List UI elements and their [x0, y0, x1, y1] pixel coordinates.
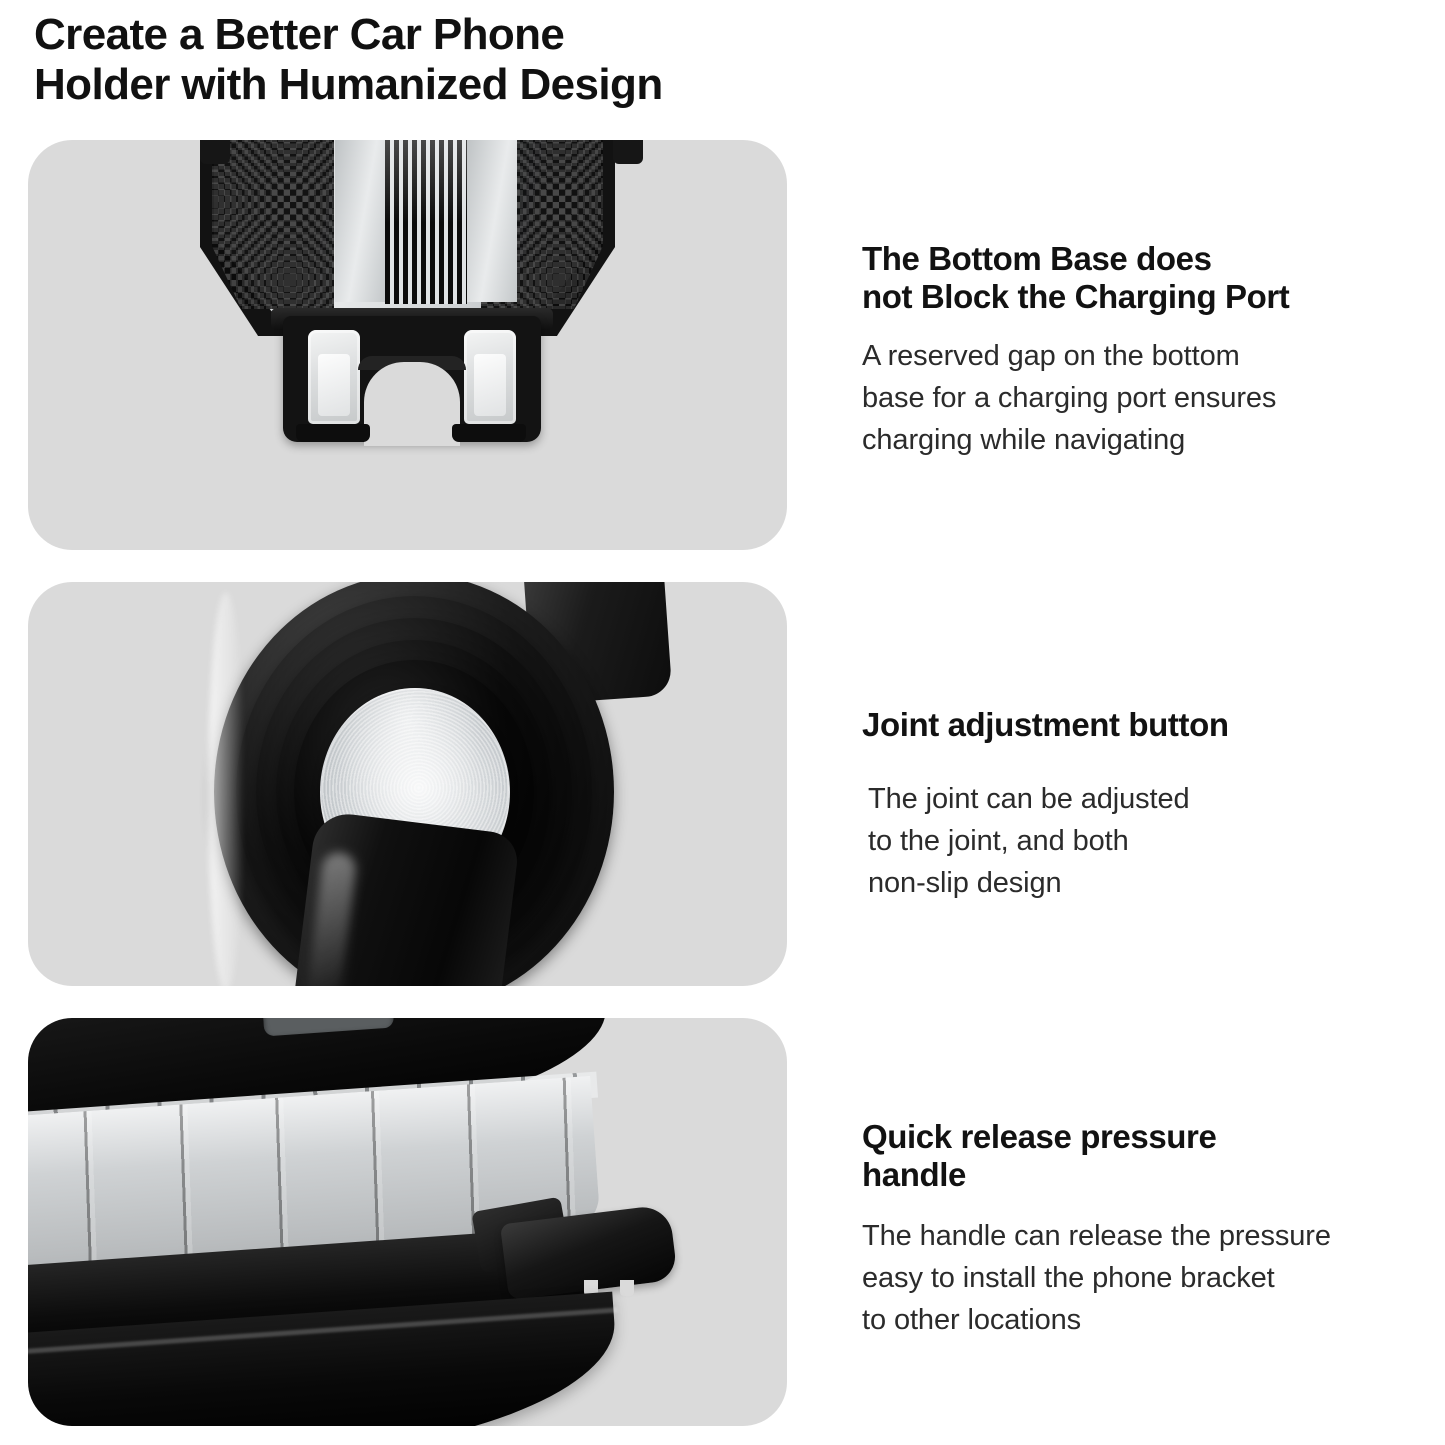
- product-photo-bottom-base: [28, 140, 787, 550]
- feature-body-3-line-3: to other locations: [862, 1299, 1442, 1341]
- ribbed-center-strip: [385, 140, 467, 304]
- feature-body-1-line-1: A reserved gap on the bottom: [862, 335, 1442, 377]
- charging-port-gap: [364, 362, 460, 446]
- clamp-arm-tip-right: [613, 140, 643, 164]
- feature-text-joint-button: Joint adjustment button The joint can be…: [862, 706, 1442, 904]
- silicone-pad-core-right: [474, 354, 506, 416]
- cradle-gap-right: [467, 140, 517, 302]
- page-title-line-1: Create a Better Car Phone: [34, 10, 874, 60]
- product-photo-joint-button: [28, 582, 787, 986]
- base-foot-right: [452, 424, 526, 442]
- feature-heading-1: The Bottom Base does not Block the Charg…: [862, 240, 1442, 317]
- feature-image-panel-bottom-base: [28, 140, 787, 550]
- feature-heading-3-line-2: handle: [862, 1156, 1442, 1194]
- cradle-gap-left: [335, 140, 385, 302]
- feature-body-1: A reserved gap on the bottom base for a …: [862, 335, 1442, 461]
- feature-body-1-line-3: charging while navigating: [862, 419, 1442, 461]
- page-title-line-2: Holder with Humanized Design: [34, 60, 874, 110]
- joint-housing-edge-highlight: [208, 592, 244, 986]
- page-title: Create a Better Car Phone Holder with Hu…: [34, 10, 874, 110]
- feature-body-3: The handle can release the pressure easy…: [862, 1215, 1442, 1341]
- feature-body-2-line-3: non-slip design: [868, 862, 1442, 904]
- feature-heading-1-line-2: not Block the Charging Port: [862, 278, 1442, 316]
- clamp-arm-tip-left: [200, 140, 230, 164]
- feature-heading-2: Joint adjustment button: [862, 706, 1442, 744]
- product-photo-suction-base: [28, 1018, 787, 1426]
- feature-body-2-line-2: to the joint, and both: [868, 820, 1442, 862]
- feature-heading-3-line-1: Quick release pressure: [862, 1118, 1442, 1156]
- feature-image-panel-joint-button: [28, 582, 787, 986]
- feature-body-2-line-1: The joint can be adjusted: [868, 778, 1442, 820]
- base-foot-left: [296, 424, 370, 442]
- feature-body-2: The joint can be adjusted to the joint, …: [868, 778, 1442, 904]
- feature-body-3-line-1: The handle can release the pressure: [862, 1215, 1442, 1257]
- feature-heading-2-line-1: Joint adjustment button: [862, 706, 1442, 744]
- silicone-pad-core-left: [318, 354, 350, 416]
- feature-body-3-line-2: easy to install the phone bracket: [862, 1257, 1442, 1299]
- feature-image-panel-release-handle: [28, 1018, 787, 1426]
- carbon-fiber-pad-left: [212, 140, 334, 309]
- feature-text-release-handle: Quick release pressure handle The handle…: [862, 1118, 1442, 1341]
- feature-heading-1-line-1: The Bottom Base does: [862, 240, 1442, 278]
- feature-heading-3: Quick release pressure handle: [862, 1118, 1442, 1195]
- feature-text-bottom-base: The Bottom Base does not Block the Charg…: [862, 240, 1442, 461]
- feature-body-1-line-2: base for a charging port ensures: [862, 377, 1442, 419]
- handle-notch-right: [620, 1280, 634, 1296]
